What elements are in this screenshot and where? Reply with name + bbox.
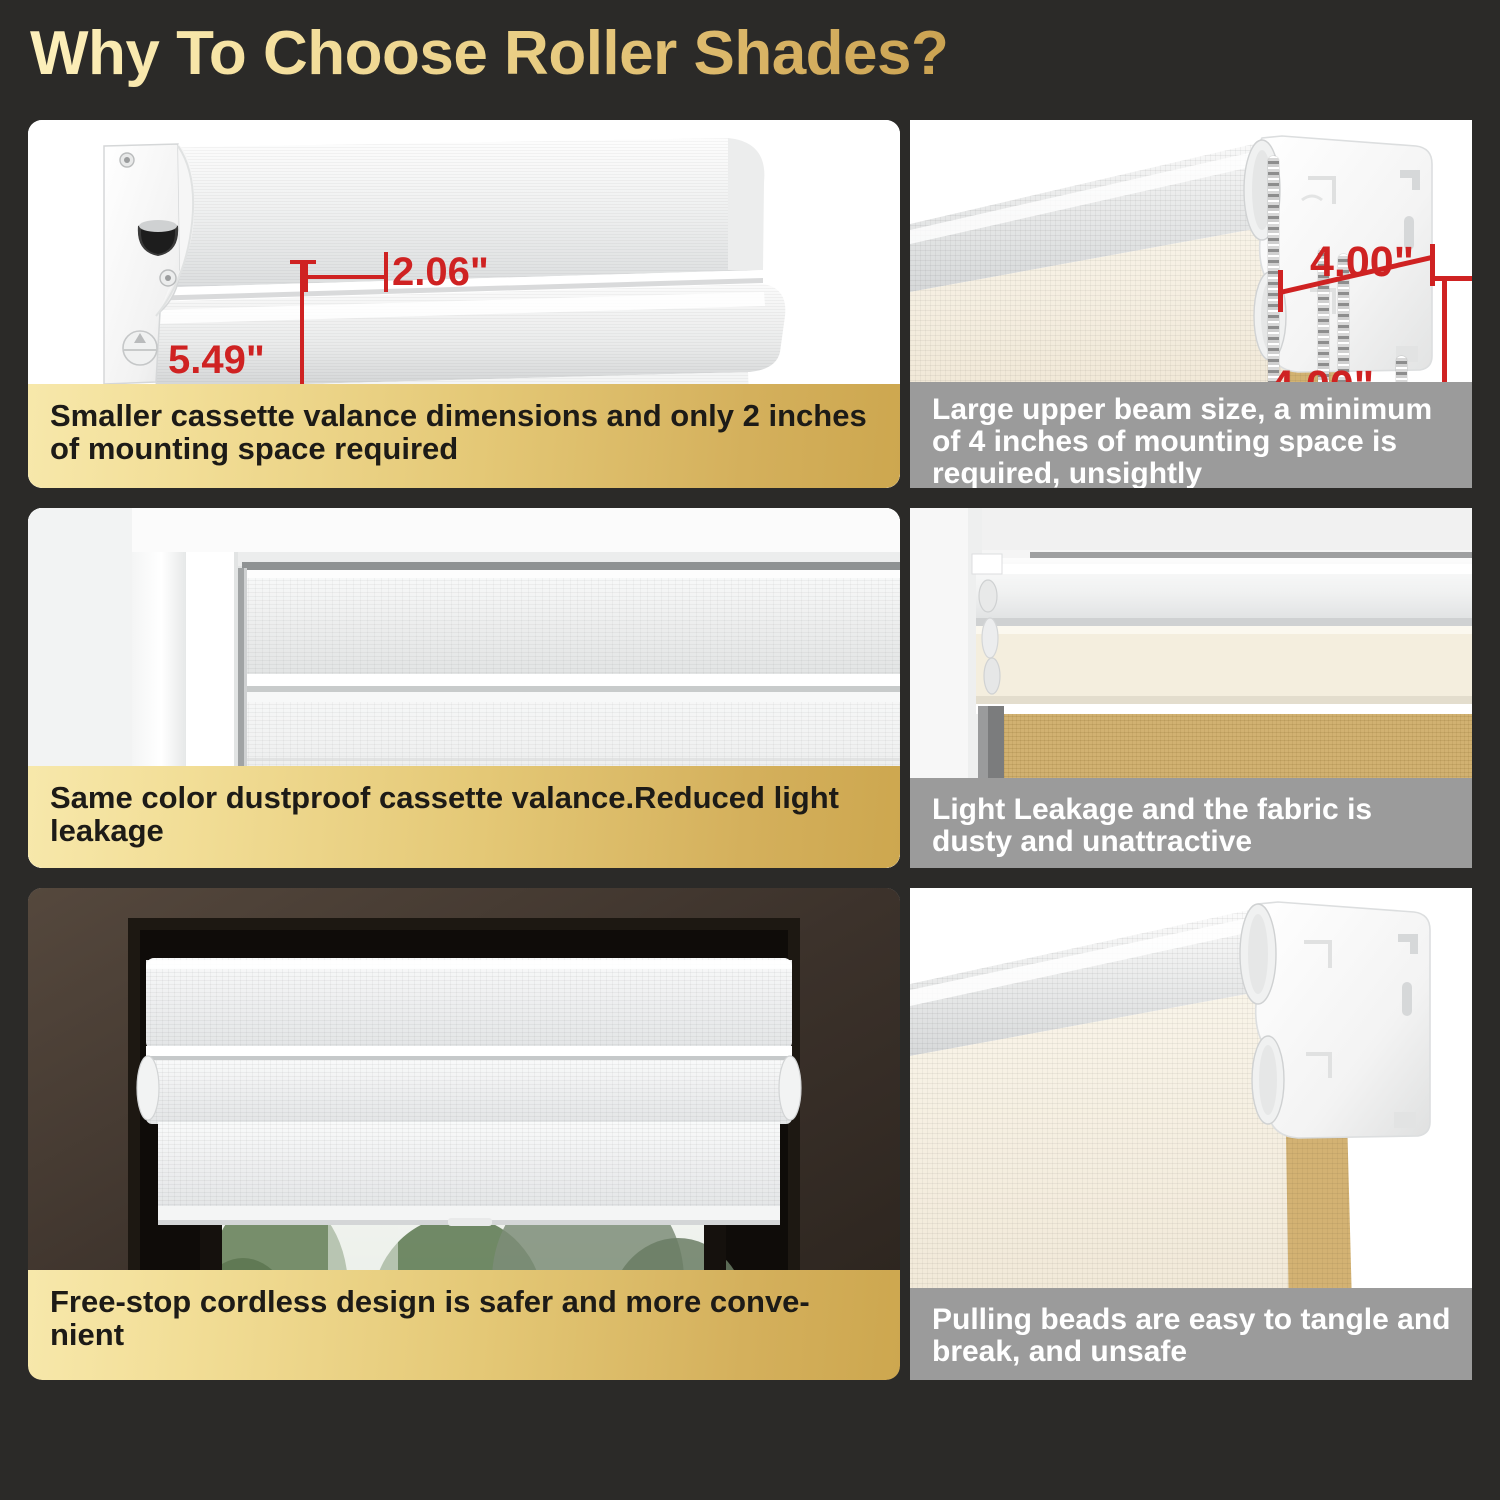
page-title: Why To Choose Roller Shades? [30,18,948,89]
caption-bottom-left: Free-stop cordless design is safer and m… [28,1270,900,1380]
panel-top-right: 4.00" 4.00" Large upper beam size, a min… [910,120,1472,488]
width-dimension-label: 2.06" [392,250,489,295]
panel-bottom-left: Free-stop cordless design is safer and m… [28,888,900,1380]
beam-height-tick-top [1430,276,1472,281]
width-dimension-tick-left [304,262,308,292]
caption-middle-right: Light Leakage and the fabric is dusty an… [910,778,1472,868]
beam-width-tick-left [1278,270,1283,312]
panel-top-left: 2.06" 5.49" Smaller cassette valance dim… [28,120,900,488]
panel-middle-left: smaller gap Same color dustproof cassett… [28,508,900,868]
width-dimension-line [306,275,388,279]
panel-middle-right: Large gap Light Leakage and the fabric i… [910,508,1472,868]
caption-middle-left: Same color dustproof cassette valance.Re… [28,766,900,868]
height-dimension-tick-top [290,260,316,264]
caption-bottom-right: Pulling beads are easy to tangle and bre… [910,1288,1472,1380]
caption-top-right: Large upper beam size, a minimum of 4 in… [910,382,1472,488]
width-dimension-tick-right [384,252,388,292]
beam-width-label: 4.00" [1310,238,1414,287]
panel-bottom-right: Pulling beads are easy to tangle and bre… [910,888,1472,1380]
caption-top-left: Smaller cassette valance dimensions and … [28,384,900,488]
height-dimension-label: 5.49" [168,338,265,383]
title-bar: Why To Choose Roller Shades? [0,0,1500,116]
